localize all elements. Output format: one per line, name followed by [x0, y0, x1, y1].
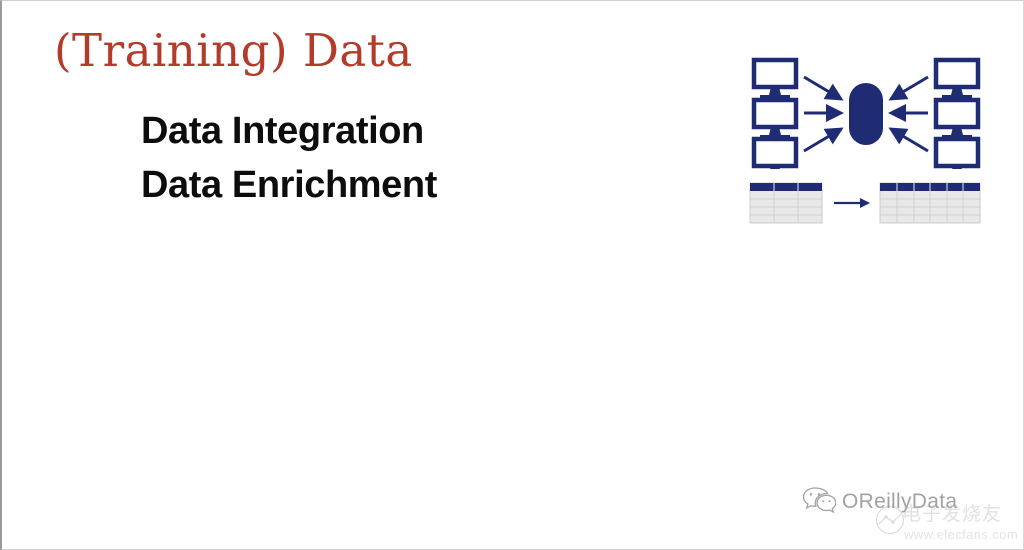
monitor-icon-left-top	[754, 60, 796, 99]
page-title: (Training) Data	[54, 27, 413, 74]
transform-arrow-icon	[834, 198, 870, 208]
data-enrichment-diagram	[746, 181, 986, 229]
database-cylinder-icon	[849, 83, 883, 145]
monitor-icon-right-top	[936, 60, 978, 99]
bullet-item-data-integration: Data Integration	[141, 104, 437, 158]
slide-canvas: (Training) Data Data Integration Data En…	[0, 0, 1024, 550]
wechat-watermark: OReillyData	[802, 485, 957, 518]
wechat-account-label: OReillyData	[842, 490, 957, 514]
source-table-icon	[750, 183, 822, 223]
monitor-icon-right-middle	[936, 100, 978, 139]
monitor-icon-right-bottom	[936, 139, 978, 169]
data-integration-diagram	[746, 57, 986, 169]
monitor-icon-left-bottom	[754, 139, 796, 169]
monitor-icon-left-middle	[754, 100, 796, 139]
wechat-icon	[802, 485, 836, 518]
bullet-item-data-enrichment: Data Enrichment	[141, 158, 437, 212]
enriched-table-icon	[880, 183, 980, 223]
bullet-list: Data Integration Data Enrichment	[141, 104, 437, 212]
elecfans-url-text: www.elecfans.com	[904, 527, 1018, 542]
